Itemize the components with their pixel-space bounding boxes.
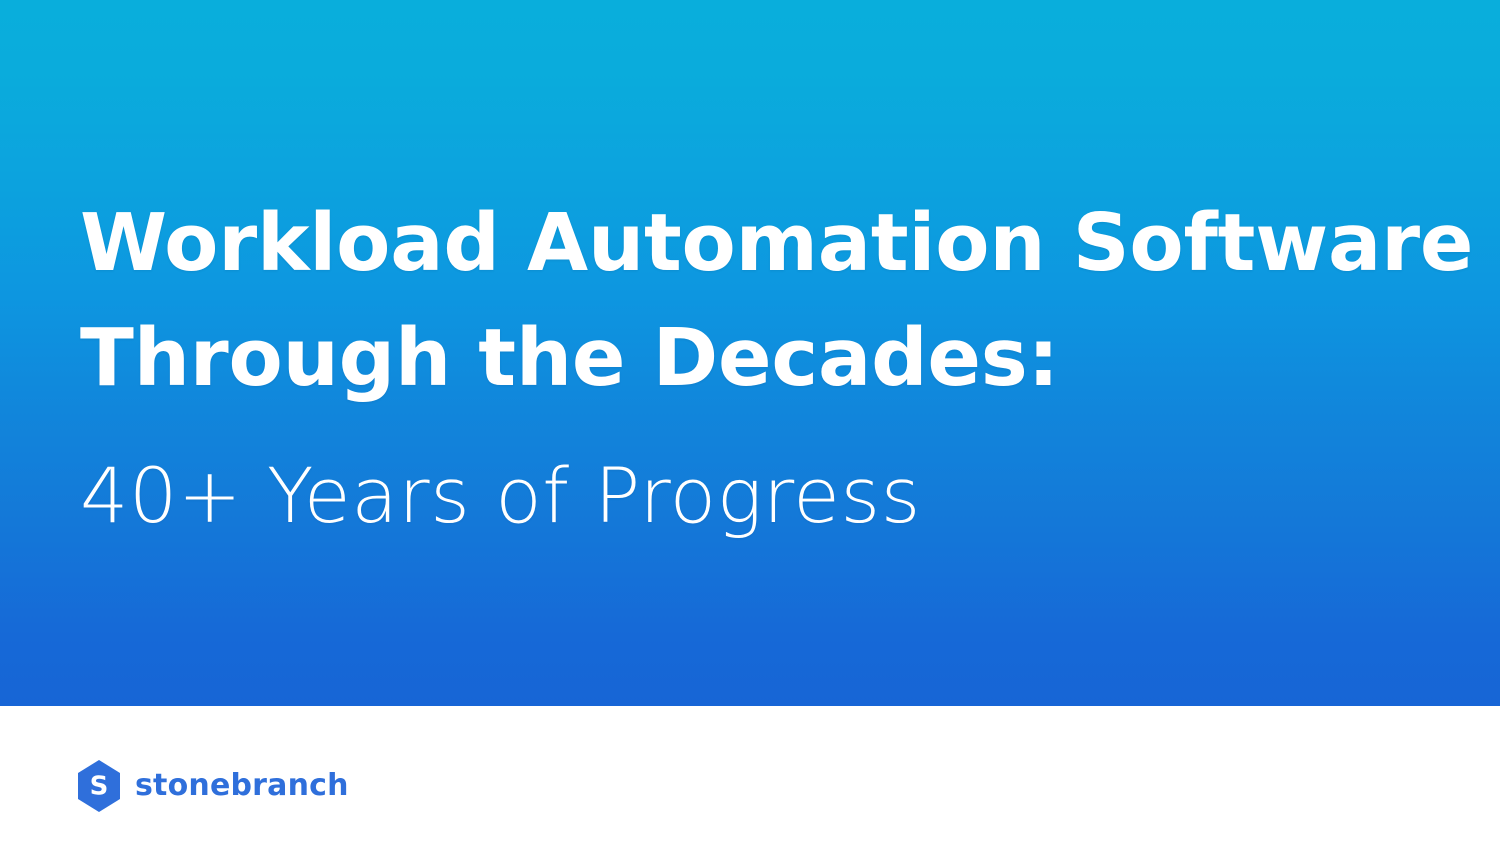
stonebranch-wordmark: stonebranch (135, 771, 349, 801)
slide-title-line-2: Through the Decades: (80, 301, 1440, 416)
slide-title-line-1: Workload Automation Software (80, 186, 1440, 301)
hero-banner: Workload Automation Software Through the… (0, 0, 1500, 706)
slide-subtitle-line: 40+ Years of Progress (80, 438, 1440, 553)
stonebranch-hexagon-s-icon: S (78, 760, 120, 812)
slide-footer: S stonebranch (0, 706, 1500, 845)
stonebranch-logo-letter: S (90, 772, 109, 802)
title-slide: Workload Automation Software Through the… (0, 0, 1500, 845)
stonebranch-logo: S stonebranch (78, 760, 349, 812)
slide-title-block: Workload Automation Software Through the… (80, 186, 1440, 553)
